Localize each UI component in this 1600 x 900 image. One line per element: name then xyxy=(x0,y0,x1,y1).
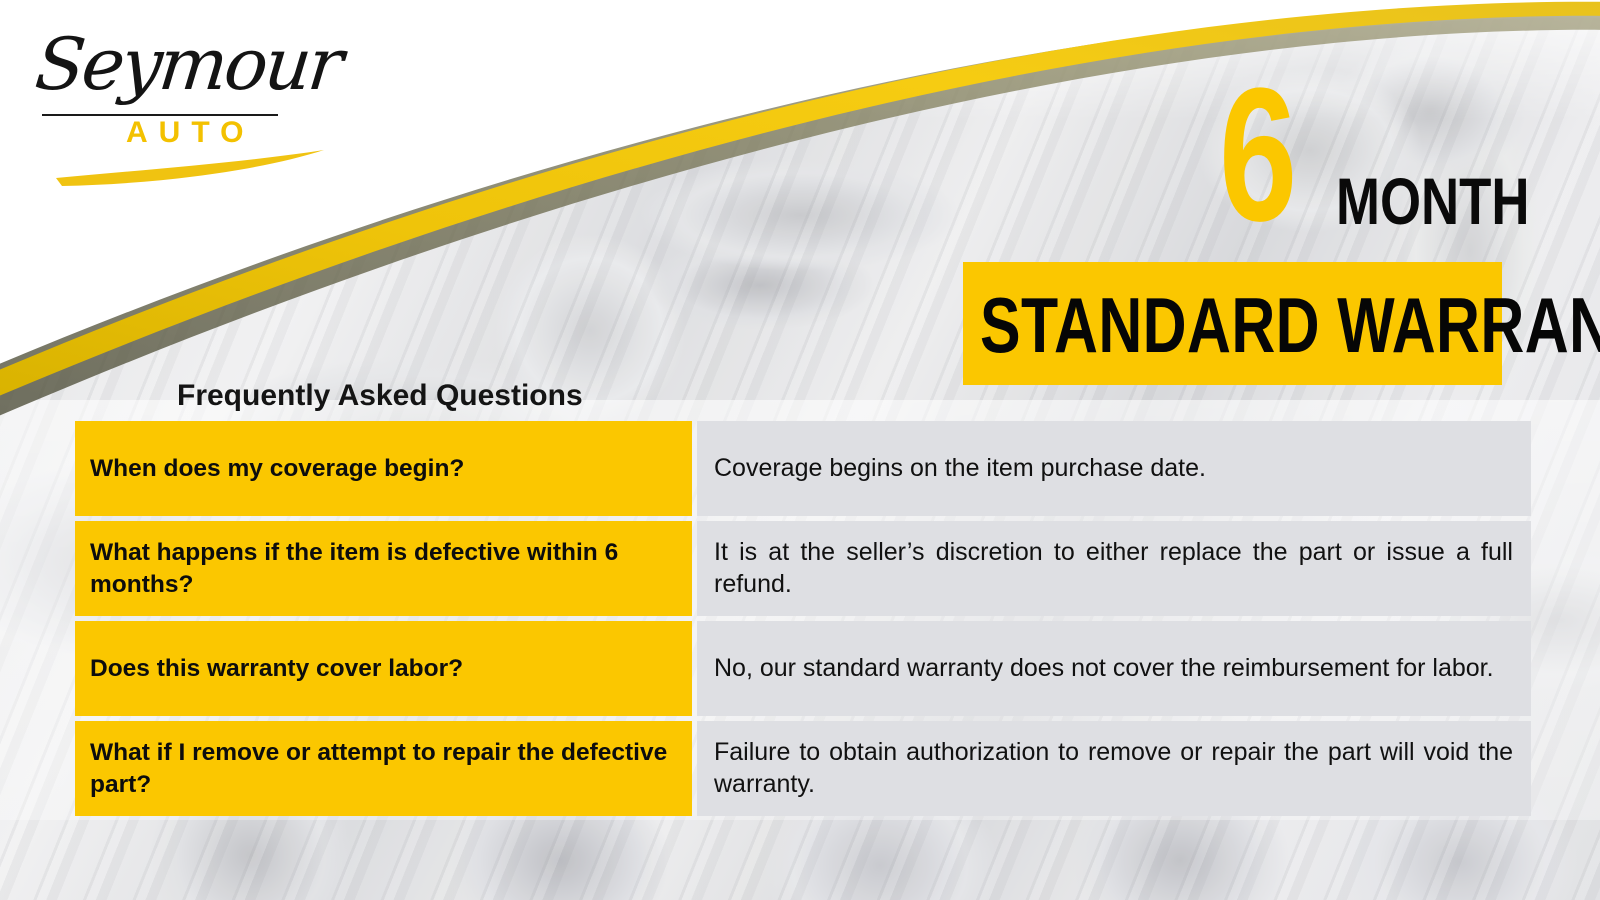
duration-number: 6 xyxy=(1219,78,1294,234)
faq-question-cell: What if I remove or attempt to repair th… xyxy=(75,721,692,816)
faq-answer-cell: Coverage begins on the item purchase dat… xyxy=(697,421,1531,516)
faq-answer-text: Failure to obtain authorization to remov… xyxy=(714,737,1513,800)
faq-question-cell: What happens if the item is defective wi… xyxy=(75,521,692,616)
faq-question-cell: Does this warranty cover labor? xyxy=(75,621,692,716)
faq-answer-text: No, our standard warranty does not cover… xyxy=(714,653,1513,685)
logo-yellow-swoosh-icon xyxy=(32,140,352,200)
table-row: Does this warranty cover labor? No, our … xyxy=(75,621,1531,716)
standard-warranty-banner: STANDARD WARRANTY xyxy=(963,262,1502,385)
warranty-slide: Seymour AUTO 6 MONTH STANDARD WARRANTY F… xyxy=(0,0,1600,900)
faq-answer-cell: No, our standard warranty does not cover… xyxy=(697,621,1531,716)
table-row: When does my coverage begin? Coverage be… xyxy=(75,421,1531,516)
faq-answer-text: It is at the seller’s discretion to eith… xyxy=(714,537,1513,600)
faq-question-cell: When does my coverage begin? xyxy=(75,421,692,516)
faq-answer-cell: It is at the seller’s discretion to eith… xyxy=(697,521,1531,616)
faq-answer-text: Coverage begins on the item purchase dat… xyxy=(714,453,1513,485)
logo-script-text: Seymour xyxy=(32,28,344,100)
duration-unit: MONTH xyxy=(1336,168,1530,234)
faq-question-text: When does my coverage begin? xyxy=(90,453,464,484)
page-title: Frequently Asked Questions xyxy=(177,378,583,414)
table-row: What if I remove or attempt to repair th… xyxy=(75,721,1531,816)
seymour-auto-logo: Seymour AUTO xyxy=(28,22,348,182)
faq-question-text: Does this warranty cover labor? xyxy=(90,653,463,684)
faq-question-text: What happens if the item is defective wi… xyxy=(90,537,678,600)
faq-answer-cell: Failure to obtain authorization to remov… xyxy=(697,721,1531,816)
table-row: What happens if the item is defective wi… xyxy=(75,521,1531,616)
standard-warranty-title: STANDARD WARRANTY xyxy=(980,286,1600,364)
faq-question-text: What if I remove or attempt to repair th… xyxy=(90,737,678,800)
faq-table: When does my coverage begin? Coverage be… xyxy=(75,421,1531,816)
